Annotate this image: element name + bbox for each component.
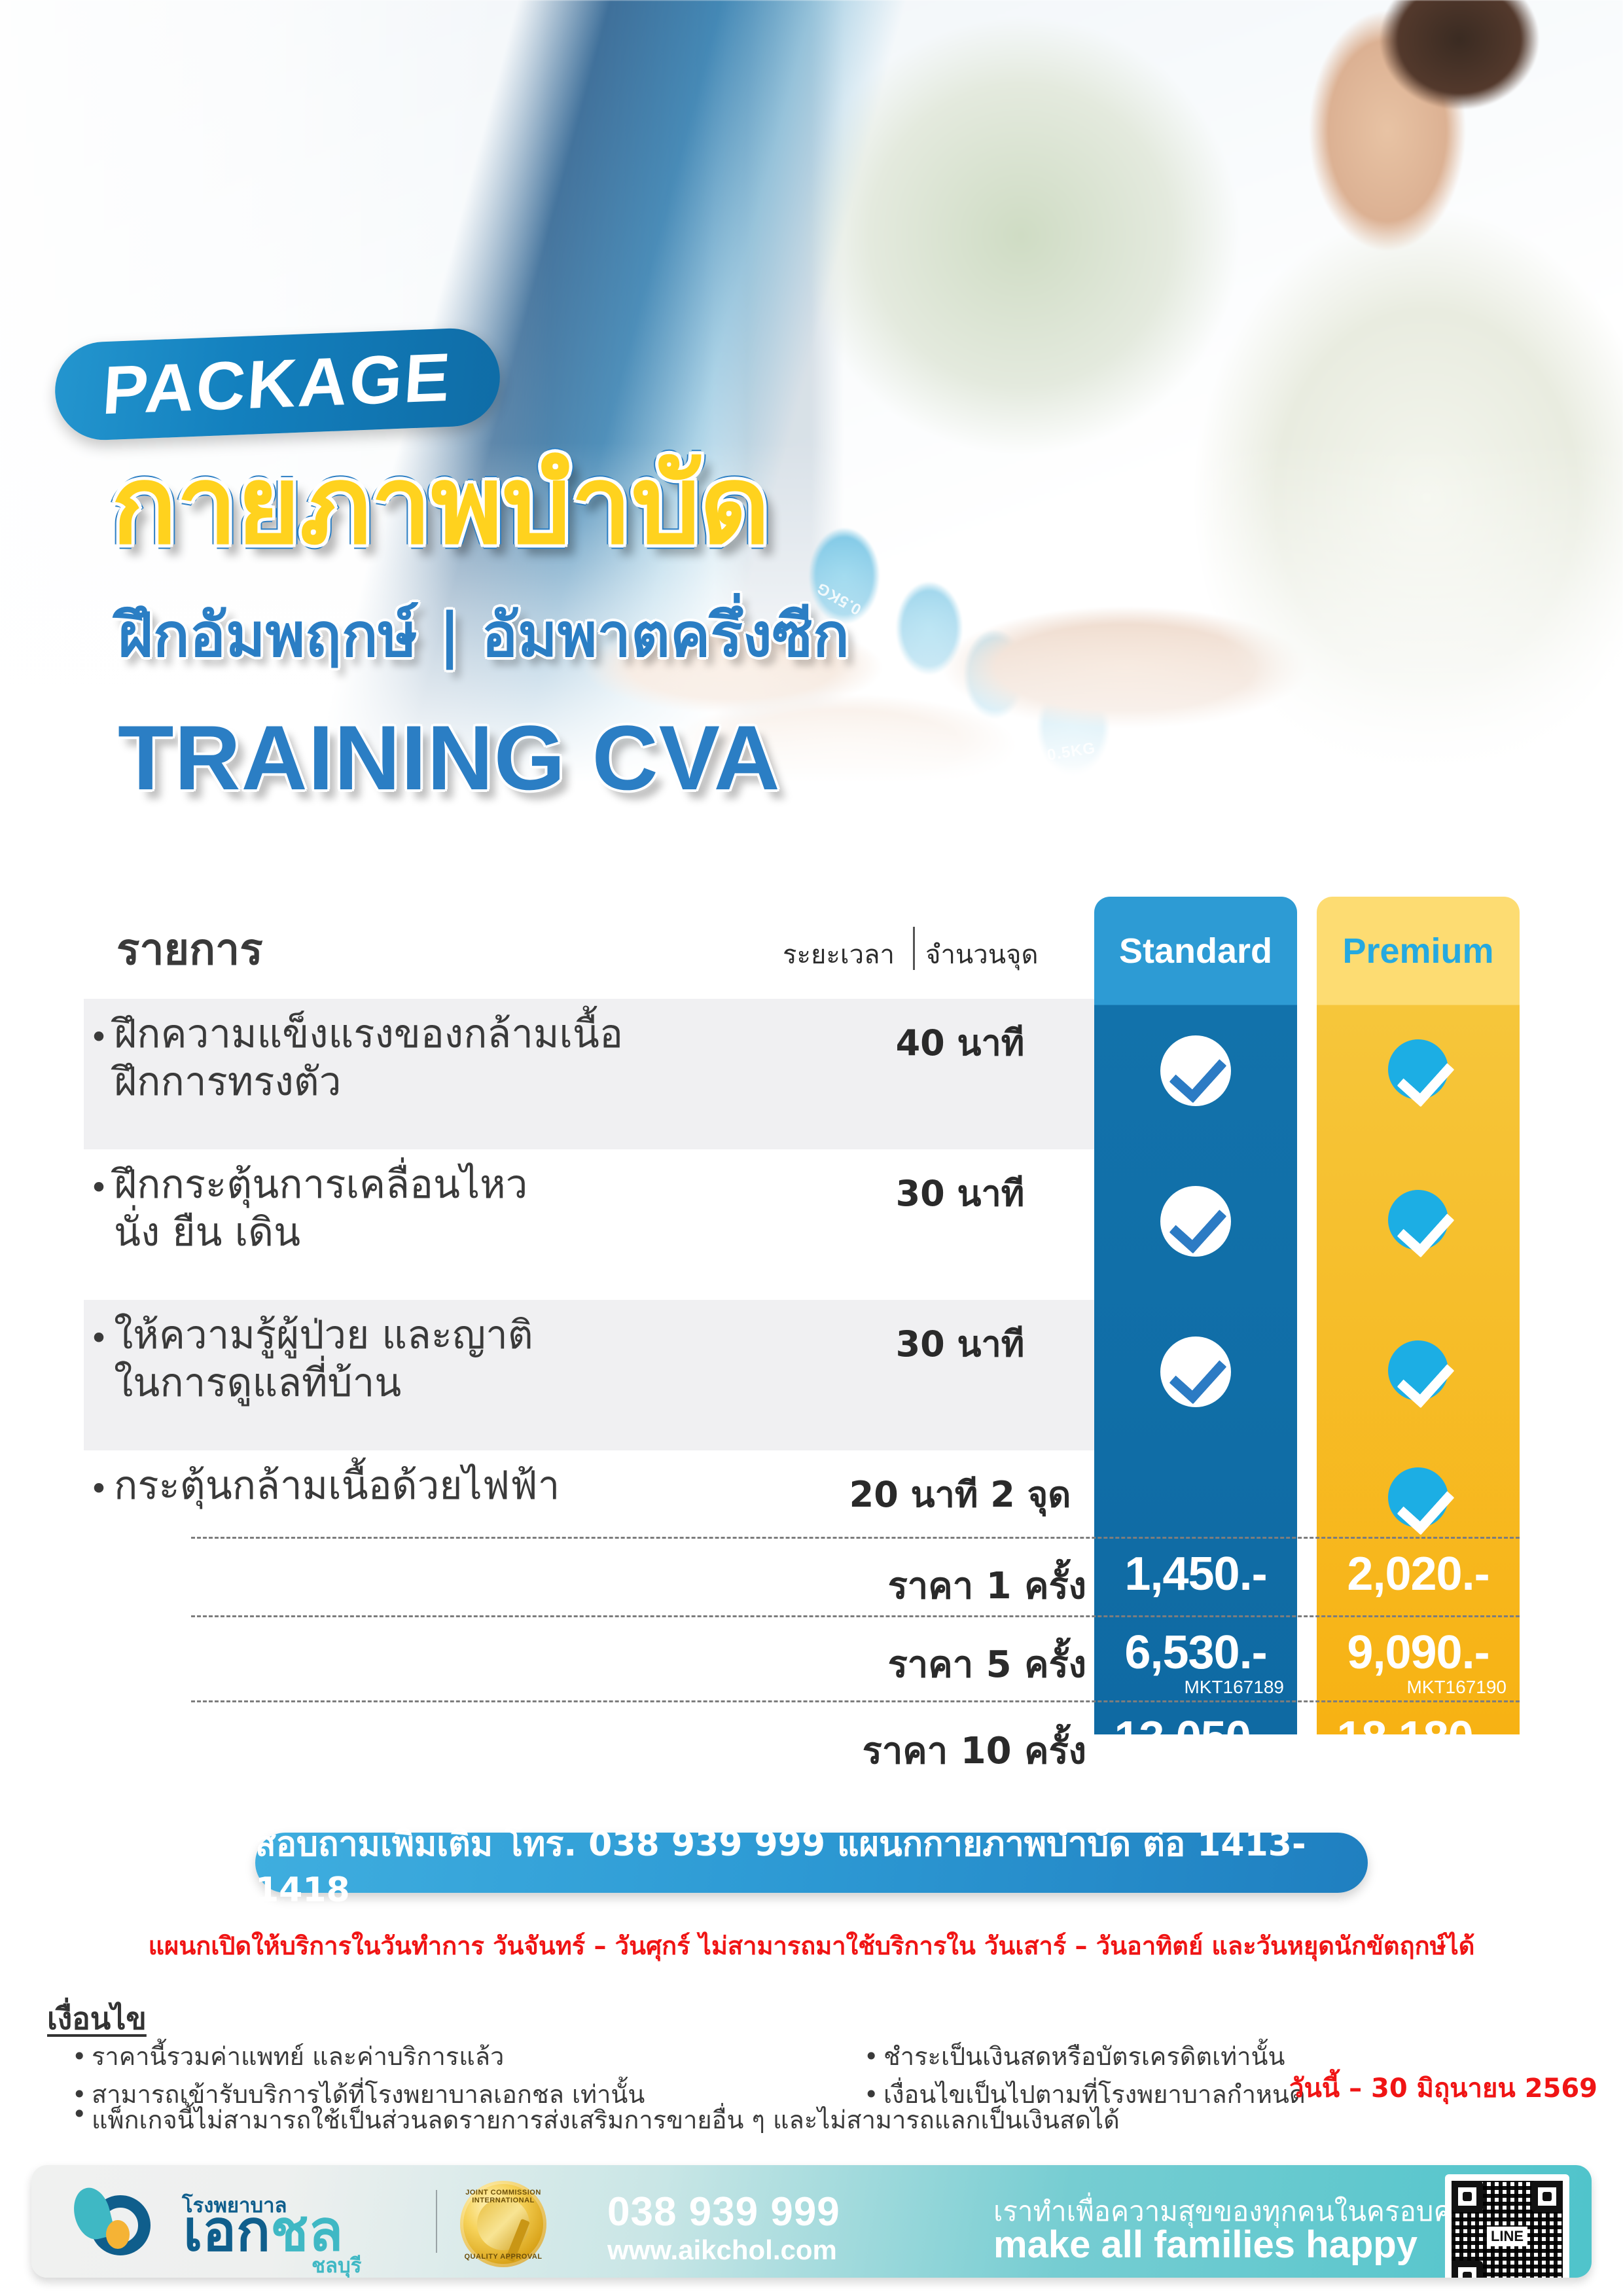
service-description: กระตุ้นกล้ามเนื้อด้วยไฟฟ้า <box>114 1450 826 1510</box>
condition-text: แพ็กเกจนี้ไม่สามารถใช้เป็นส่วนลดรายการส่… <box>92 2100 1120 2140</box>
price-row-label-1: ราคา 1 ครั้ง <box>772 1556 1086 1615</box>
condition-text: ชำระเป็นเงินสดหรือบัตรเครดิตเท่านั้น <box>883 2039 1285 2075</box>
standard-price-2: 6,530.- <box>1094 1626 1297 1679</box>
validity-date: วันนี้ – 30 มิถุนายน 2569 <box>1289 2067 1597 2109</box>
price-row-label-2: ราคา 5 ครั้ง <box>772 1635 1086 1693</box>
premium-check-row-4 <box>1317 1467 1520 1530</box>
standard-check-row-2 <box>1094 1186 1297 1259</box>
service-duration: 30 นาที <box>826 1300 1094 1372</box>
seal-text-bottom: QUALITY APPROVAL <box>460 2253 546 2261</box>
table-row: • กระตุ้นกล้ามเนื้อด้วยไฟฟ้า 20 นาที 2 จ… <box>84 1450 1094 1535</box>
service-hours-warning: แผนกเปิดให้บริการในวันทำการ วันจันทร์ – … <box>0 1926 1623 1965</box>
standard-column-header: Standard <box>1094 931 1297 971</box>
qr-label: LINE <box>1487 2227 1527 2246</box>
contact-banner[interactable]: สอบถามเพิ่มเติม โทร. 038 939 999 แผนกกาย… <box>255 1833 1368 1893</box>
header-divider <box>913 927 915 970</box>
table-header-row: รายการ ระยะเวลา จำนวนจุด <box>0 877 1094 1005</box>
check-icon <box>1388 1190 1448 1250</box>
qr-finder-icon <box>1531 2181 1563 2212</box>
check-icon <box>1388 1340 1448 1401</box>
list-bullet: • <box>84 1450 114 1505</box>
seal-inner <box>477 2198 529 2250</box>
standard-sku-code-3: MKT167191 <box>1094 1762 1284 1783</box>
standard-price-3: 13,050.- <box>1094 1711 1297 1763</box>
check-icon <box>1388 1039 1448 1100</box>
qr-pattern: LINE <box>1452 2181 1563 2278</box>
condition-text: ราคานี้รวมค่าแพทย์ และค่าบริการแล้ว <box>92 2039 504 2075</box>
standard-column: Standard <box>1094 897 1297 1734</box>
conditions-heading: เงื่อนไข <box>47 1995 147 2043</box>
page-title-thai: กายภาพบำบัด <box>111 452 770 560</box>
premium-sku-code-2: MKT167190 <box>1317 1677 1507 1698</box>
table-row: • ให้ความรู้ผู้ป่วย และญาติ ในการดูแลที่… <box>84 1300 1094 1450</box>
jci-accreditation-seal-icon: JOINT COMMISSION INTERNATIONAL QUALITY A… <box>460 2181 546 2267</box>
check-icon <box>1160 1186 1231 1257</box>
list-bullet: • <box>84 1149 114 1204</box>
premium-check-row-1 <box>1317 1039 1520 1102</box>
row-divider <box>191 1700 1520 1702</box>
standard-sku-code-2: MKT167189 <box>1094 1677 1284 1698</box>
page-title-english: TRAINING CVA <box>118 712 781 804</box>
service-duration: 20 นาที 2 จุด <box>826 1450 1094 1522</box>
price-row-label-3: ราคา 10 ครั้ง <box>772 1721 1086 1780</box>
logo-dot-shape <box>106 2220 130 2249</box>
list-bullet: • <box>72 2100 92 2140</box>
premium-check-row-2 <box>1317 1190 1520 1253</box>
service-duration: 30 นาที <box>826 1149 1094 1221</box>
premium-sku-code-3: MKT167192 <box>1317 1762 1507 1783</box>
line-qr-code[interactable]: LINE <box>1445 2174 1569 2278</box>
page-subtitle-thai: ฝึกอัมพฤกษ์ | อัมพาตครึ่งซีก <box>118 605 849 666</box>
qr-finder-icon <box>1452 2181 1483 2212</box>
footer-slogan-english: make all families happy <box>993 2223 1418 2267</box>
contact-banner-text: สอบถามเพิ่มเติม โทร. 038 939 999 แผนกกาย… <box>255 1816 1368 1910</box>
premium-price-2: 9,090.- <box>1317 1626 1520 1679</box>
table-row: • ฝึกความแข็งแรงของกล้ามเนื้อ ฝึกการทรงต… <box>84 999 1094 1149</box>
footer-website[interactable]: www.aikchol.com <box>607 2234 837 2266</box>
check-icon <box>1388 1467 1448 1528</box>
footer-phone[interactable]: 038 939 999 <box>607 2189 840 2235</box>
row-divider <box>191 1615 1520 1617</box>
premium-price-1: 2,020.- <box>1317 1547 1520 1601</box>
package-badge-label: PACKAGE <box>101 338 455 430</box>
premium-column-header: Premium <box>1317 931 1520 971</box>
package-comparison-table: Standard Premium รายการ ระยะเวลา จำนวนจุ… <box>0 877 1623 1806</box>
hospital-name-part1: เอก <box>183 2198 270 2264</box>
standard-price-1: 1,450.- <box>1094 1547 1297 1601</box>
premium-check-row-3 <box>1317 1340 1520 1403</box>
service-description: ฝึกความแข็งแรงของกล้ามเนื้อ ฝึกการทรงตัว <box>114 999 826 1106</box>
list-bullet: • <box>864 2039 883 2075</box>
standard-check-row-3 <box>1094 1336 1297 1410</box>
condition-item-wide: • แพ็กเกจนี้ไม่สามารถใช้เป็นส่วนลดรายการ… <box>72 2100 1446 2140</box>
poster-root: 0.5KG 0.5KG PACKAGE กายภาพบำบัด ฝึกอัมพฤ… <box>0 0 1623 2296</box>
column-header-item: รายการ <box>116 915 263 984</box>
row-divider <box>191 1537 1520 1539</box>
condition-item: • ราคานี้รวมค่าแพทย์ และค่าบริการแล้ว <box>72 2039 877 2075</box>
qr-finder-icon <box>1452 2261 1483 2278</box>
premium-price-3: 18,180.- <box>1317 1711 1520 1763</box>
service-description: ให้ความรู้ผู้ป่วย และญาติ ในการดูแลที่บ้… <box>114 1300 826 1407</box>
column-header-points: จำนวนจุด <box>925 933 1038 975</box>
package-badge: PACKAGE <box>53 327 501 442</box>
column-header-duration: ระยะเวลา <box>783 933 895 975</box>
hospital-province: ชลบุรี <box>312 2249 361 2278</box>
table-row: • ฝึกกระตุ้นการเคลื่อนไหว นั่ง ยืน เดิน … <box>84 1149 1094 1300</box>
footer-divider <box>436 2190 437 2253</box>
seal-text-top: JOINT COMMISSION INTERNATIONAL <box>460 2189 546 2204</box>
list-bullet: • <box>84 999 114 1054</box>
hospital-logo-icon <box>75 2187 151 2261</box>
premium-column: Premium <box>1317 897 1520 1734</box>
service-duration: 40 นาที <box>826 999 1094 1071</box>
list-bullet: • <box>72 2039 92 2075</box>
standard-check-row-1 <box>1094 1035 1297 1109</box>
list-bullet: • <box>84 1300 114 1355</box>
check-icon <box>1160 1035 1231 1106</box>
footer-bar: โรงพยาบาล เอกชล ชลบุรี JOINT COMMISSION … <box>31 2165 1592 2278</box>
service-description: ฝึกกระตุ้นการเคลื่อนไหว นั่ง ยืน เดิน <box>114 1149 826 1257</box>
check-icon <box>1160 1336 1231 1407</box>
